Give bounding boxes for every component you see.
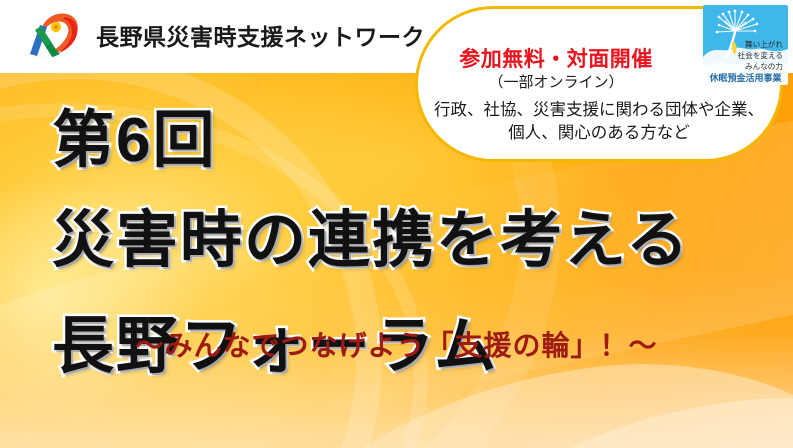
badge-slogan-line-3: みんなの力 <box>745 61 783 71</box>
badge-slogan-line-2: 社会を変える <box>738 50 783 60</box>
free-admission-label: 参加無料・対面開催 <box>418 43 694 73</box>
event-poster: 第6回 災害時の連携を考える 長野フォーラム 〜みんなでつなげよう「支援の輪」！… <box>0 0 793 448</box>
target-audience-label: 行政、社協、災害支援に関わる団体や企業、個人、関心のある方など <box>434 99 764 146</box>
online-note-label: （一部オンライン） <box>418 71 694 92</box>
nagano-network-logo-icon <box>20 9 82 61</box>
headline-subtitle: 〜みんなでつなげよう「支援の輪」！〜 <box>0 324 793 364</box>
badge-program-name: 休眠預金活用事業 <box>708 72 782 83</box>
header-brand: 長野県災害時支援ネットワーク <box>20 9 425 61</box>
header-title: 長野県災害時支援ネットワーク <box>96 18 425 52</box>
badge-slogan-line-1: 舞い上がれ <box>745 39 783 49</box>
sponsor-badge: 舞い上がれ 社会を変える みんなの力 休眠預金活用事業 <box>703 5 788 85</box>
headline-line-theme: 災害時の連携を考える <box>52 189 690 279</box>
headline-line-edition: 第6回 <box>52 89 216 179</box>
